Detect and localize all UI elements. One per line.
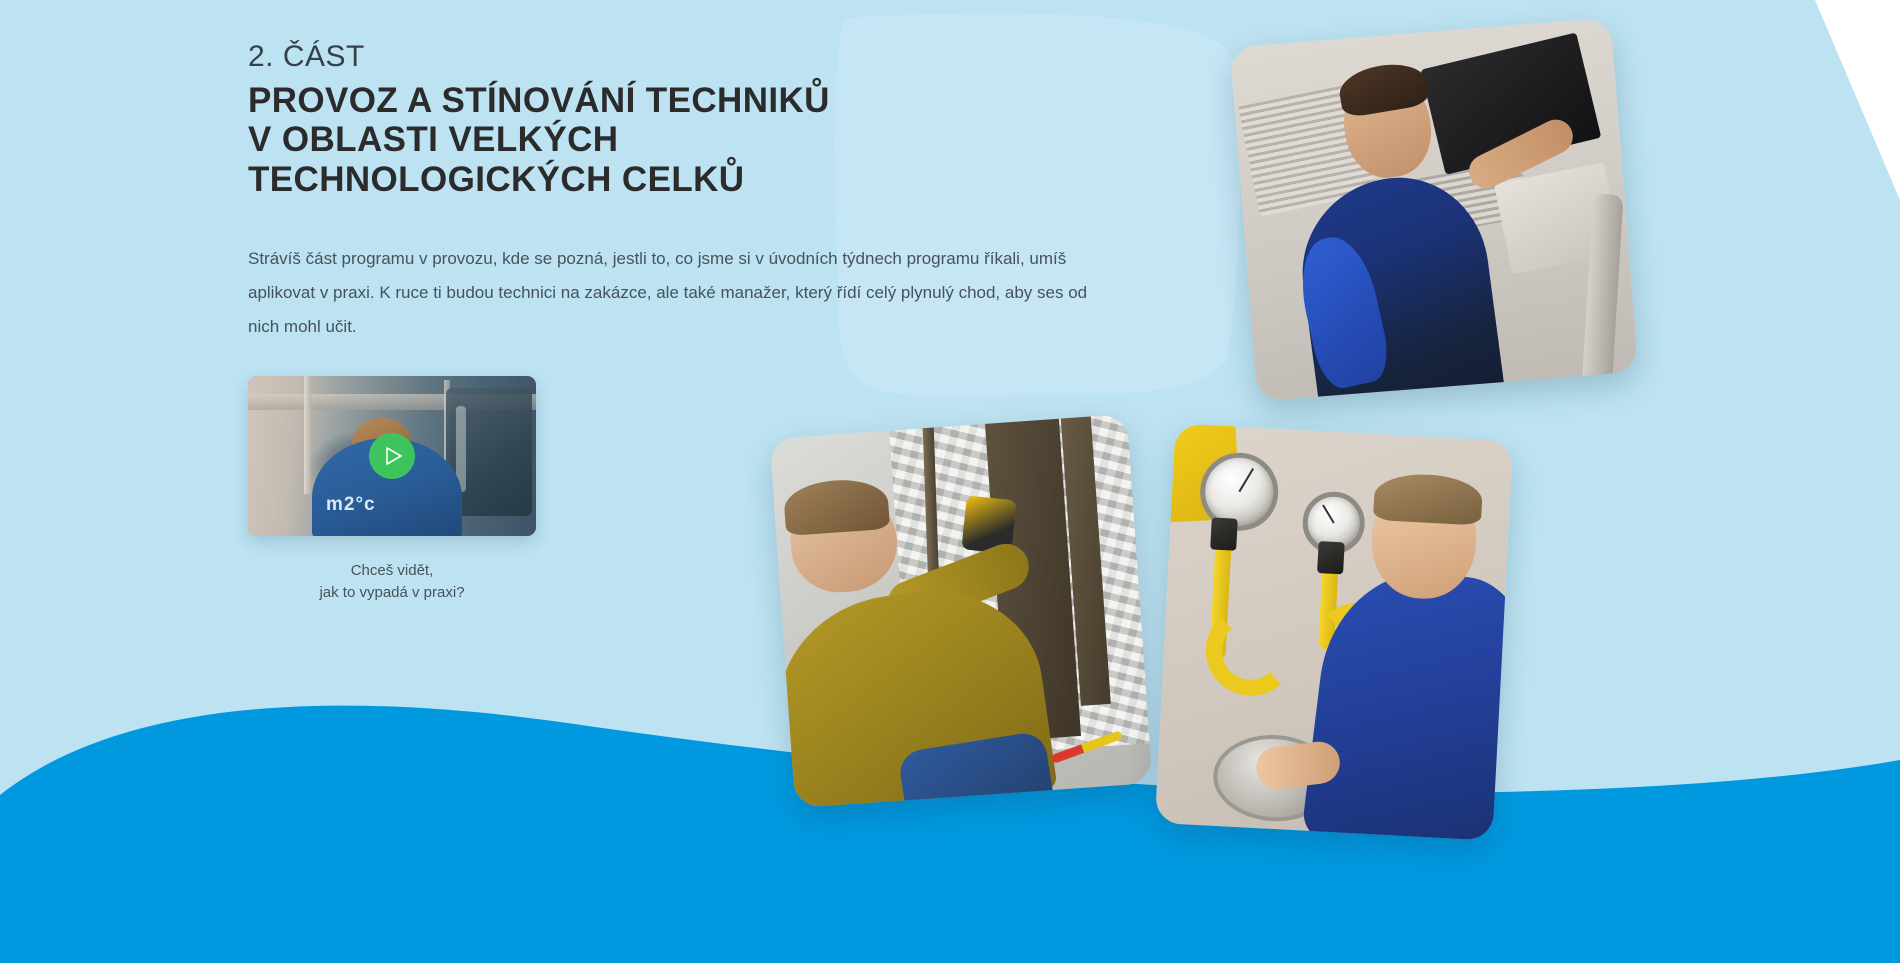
video-caption-line-1: Chceš vidět,	[248, 560, 536, 582]
headline-line-2: V OBLASTI VELKÝCH	[248, 120, 1008, 160]
page-title: PROVOZ A STÍNOVÁNÍ TECHNIKŮ V OBLASTI VE…	[248, 81, 1008, 201]
video-still-uniform-logo: m2°c	[326, 494, 376, 516]
play-icon[interactable]	[369, 433, 415, 479]
valve-right	[1317, 541, 1345, 574]
photo-backdrop	[770, 414, 1153, 808]
photo-backdrop	[1155, 423, 1513, 840]
headline-line-3: TECHNOLOGICKÝCH CELKŮ	[248, 160, 1008, 200]
video-thumbnail[interactable]: m2°c	[248, 376, 536, 536]
section-description: Strávíš část programu v provozu, kde se …	[248, 242, 1120, 344]
text-column: 2. ČÁST PROVOZ A STÍNOVÁNÍ TECHNIKŮ V OB…	[248, 40, 1148, 344]
section-eyebrow: 2. ČÁST	[248, 40, 1148, 75]
gauge-needle	[1322, 504, 1334, 523]
technician-hair	[783, 477, 890, 536]
video-caption: Chceš vidět, jak to vypadá v praxi?	[248, 560, 536, 604]
technician-hair	[1373, 472, 1483, 526]
headline-line-1: PROVOZ A STÍNOVÁNÍ TECHNIKŮ	[248, 81, 1008, 121]
photo-technician-pressure-gauges	[1155, 423, 1513, 840]
photo-technician-drilling-window	[770, 414, 1153, 808]
gauge-needle	[1238, 468, 1254, 492]
corner-diagonal-shape-2	[1828, 0, 1900, 140]
corner-diagonal-shape	[1815, 0, 1900, 200]
video-block: m2°c Chceš vidět, jak to vypadá v praxi?	[248, 376, 536, 604]
video-still-pipe	[304, 376, 311, 494]
video-caption-line-2: jak to vypadá v praxi?	[248, 582, 536, 604]
photo-backdrop	[1230, 18, 1639, 402]
slide-canvas: 2. ČÁST PROVOZ A STÍNOVÁNÍ TECHNIKŮ V OB…	[0, 0, 1900, 963]
valve-left	[1210, 517, 1238, 550]
photo-technician-ceiling-unit	[1230, 18, 1639, 402]
